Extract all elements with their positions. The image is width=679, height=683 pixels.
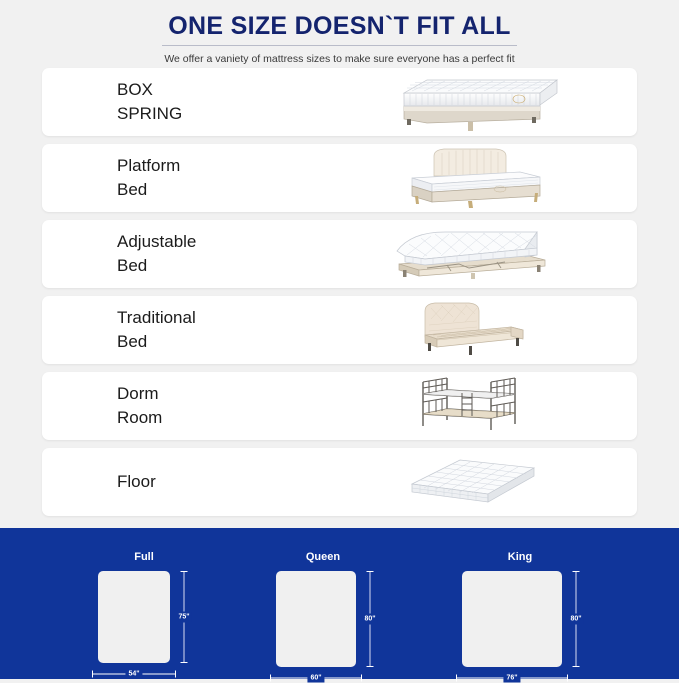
mattress-type-list: BOX SPRING — [42, 68, 637, 524]
list-item[interactable]: Platform Bed — [42, 144, 637, 212]
size-label-full: Full — [84, 550, 204, 564]
size-width-value-full: 54" — [125, 670, 142, 679]
size-block-king: King 80" 76" — [440, 550, 600, 670]
page-header: ONE SIZE DOESN`T FIT ALL We offer a vani… — [0, 0, 679, 66]
floor-mattress-icon — [372, 448, 572, 516]
size-height-dim-queen: 80" — [362, 571, 378, 667]
size-width-dim-full: 54" — [92, 669, 176, 679]
card-label: Traditional Bed — [117, 306, 347, 354]
size-block-full: Full 75" 54" — [84, 550, 204, 670]
size-height-value-queen: 80" — [362, 614, 377, 625]
list-item[interactable]: Traditional Bed — [42, 296, 637, 364]
platform-bed-icon — [372, 144, 572, 212]
size-height-value-king: 80" — [568, 614, 583, 625]
size-swatch-full — [98, 571, 170, 663]
card-label: Adjustable Bed — [117, 230, 347, 278]
adjustable-bed-icon — [372, 220, 572, 288]
list-item[interactable]: Floor — [42, 448, 637, 516]
size-width-value-king: 76" — [503, 674, 520, 683]
size-swatch-king — [462, 571, 562, 667]
size-block-queen: Queen 80" 60" — [258, 550, 388, 670]
card-label: Platform Bed — [117, 154, 347, 202]
size-label-king: King — [440, 550, 600, 564]
size-width-value-queen: 60" — [307, 674, 324, 683]
card-label: Floor — [117, 470, 347, 494]
size-label-queen: Queen — [258, 550, 388, 564]
traditional-bed-icon — [372, 296, 572, 364]
size-swatch-queen — [276, 571, 356, 667]
size-height-value-full: 75" — [176, 612, 191, 623]
size-width-dim-king: 76" — [456, 673, 568, 683]
card-label: Dorm Room — [117, 382, 347, 430]
size-height-dim-king: 80" — [568, 571, 584, 667]
page-subtitle: We offer a vaniety of mattress sizes to … — [0, 53, 679, 66]
mattress-size-panel: Full 75" 54" Queen 80" 60" King 80" — [0, 528, 679, 679]
card-label: BOX SPRING — [117, 78, 347, 126]
size-height-dim-full: 75" — [176, 571, 192, 663]
list-item[interactable]: Dorm Room — [42, 372, 637, 440]
list-item[interactable]: BOX SPRING — [42, 68, 637, 136]
bunk-bed-icon — [372, 372, 572, 440]
size-width-dim-queen: 60" — [270, 673, 362, 683]
page-title: ONE SIZE DOESN`T FIT ALL — [162, 11, 516, 46]
list-item[interactable]: Adjustable Bed — [42, 220, 637, 288]
box-spring-mattress-icon — [372, 68, 572, 136]
